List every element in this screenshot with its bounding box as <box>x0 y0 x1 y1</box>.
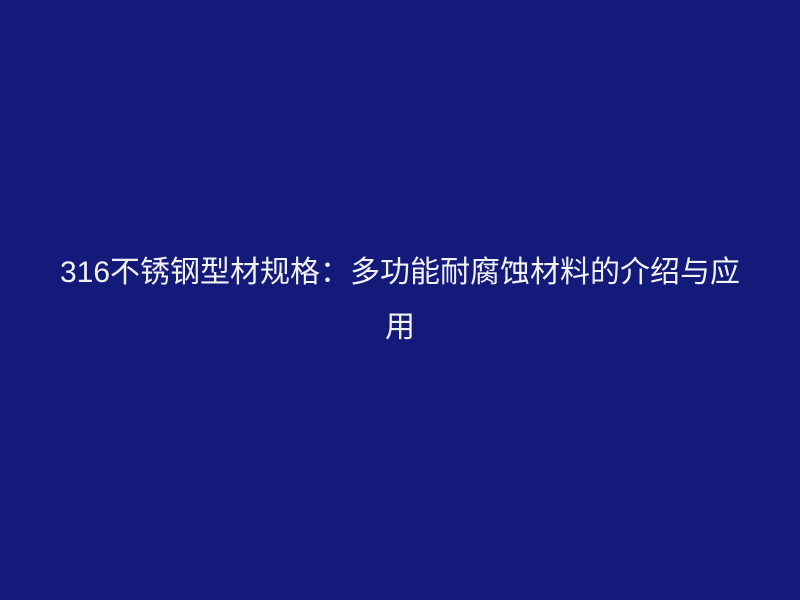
slide-canvas: 316不锈钢型材规格：多功能耐腐蚀材料的介绍与应用 <box>0 0 800 600</box>
page-title: 316不锈钢型材规格：多功能耐腐蚀材料的介绍与应用 <box>50 245 750 355</box>
title-block: 316不锈钢型材规格：多功能耐腐蚀材料的介绍与应用 <box>0 245 800 355</box>
